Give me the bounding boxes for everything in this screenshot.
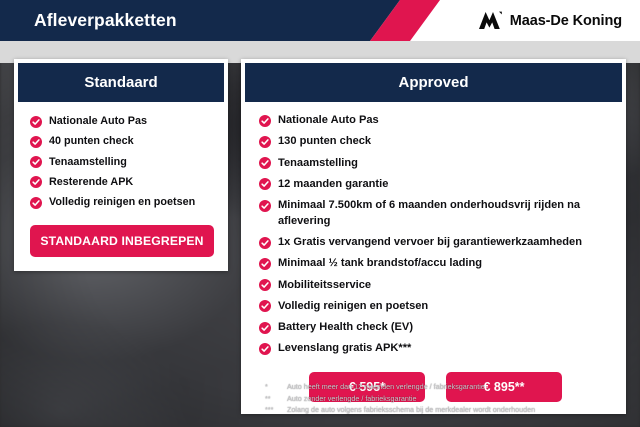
feature-label: Minimaal ½ tank brandstof/accu lading: [278, 256, 482, 272]
standaard-card-heading: Standaard: [18, 63, 224, 102]
brand-name: Maas-De Koning: [510, 13, 622, 29]
check-circle-icon: [30, 197, 42, 209]
check-circle-icon: [259, 200, 271, 212]
feature-item: Levenslang gratis APK***: [259, 341, 612, 357]
approved-card: Approved Nationale Auto Pas130 punten ch…: [241, 59, 626, 414]
check-circle-icon: [259, 322, 271, 334]
footnote-row: **Auto zonder verlengde / fabrieksgarant…: [265, 393, 635, 405]
feature-item: 130 punten check: [259, 134, 612, 150]
feature-label: 12 maanden garantie: [278, 177, 388, 193]
afleverpakketten-page: Afleverpakketten Maas-De Koning Standaar…: [0, 0, 640, 427]
feature-label: Mobiliteitsservice: [278, 278, 371, 294]
feature-item: Volledig reinigen en poetsen: [259, 299, 612, 315]
feature-label: Battery Health check (EV): [278, 320, 413, 336]
footnote-text: Auto zonder verlengde / fabrieksgarantie: [287, 393, 635, 405]
approved-card-body: Nationale Auto Pas130 punten checkTenaam…: [241, 102, 626, 414]
feature-item: Tenaamstelling: [259, 156, 612, 172]
footnotes: *Auto heeft meer dan 12 maanden verlengd…: [265, 381, 635, 416]
standaard-feature-list: Nationale Auto Pas40 punten checkTenaams…: [30, 114, 214, 211]
footnote-marker: *: [265, 381, 281, 393]
maas-de-koning-m-mark-icon: [476, 11, 502, 30]
footnote-row: ***Zolang de auto volgens fabrieksschema…: [265, 404, 635, 416]
approved-card-heading: Approved: [245, 63, 622, 102]
feature-label: 1x Gratis vervangend vervoer bij garanti…: [278, 235, 582, 251]
feature-label: Minimaal 7.500km of 6 maanden onderhouds…: [278, 198, 612, 230]
approved-feature-list: Nationale Auto Pas130 punten checkTenaam…: [259, 113, 612, 357]
check-circle-icon: [259, 115, 271, 127]
feature-item: Mobiliteitsservice: [259, 278, 612, 294]
check-circle-icon: [259, 300, 271, 312]
feature-label: 130 punten check: [278, 134, 371, 150]
feature-item: Battery Health check (EV): [259, 320, 612, 336]
standaard-card-body: Nationale Auto Pas40 punten checkTenaams…: [14, 102, 228, 271]
footnote-row: *Auto heeft meer dan 12 maanden verlengd…: [265, 381, 635, 393]
check-circle-icon: [259, 178, 271, 190]
feature-item: Nationale Auto Pas: [259, 113, 612, 129]
feature-item: Resterende APK: [30, 175, 214, 190]
footnote-marker: **: [265, 393, 281, 405]
feature-item: 1x Gratis vervangend vervoer bij garanti…: [259, 235, 612, 251]
check-circle-icon: [30, 156, 42, 168]
feature-item: Minimaal ½ tank brandstof/accu lading: [259, 256, 612, 272]
page-title: Afleverpakketten: [34, 0, 177, 41]
feature-item: Minimaal 7.500km of 6 maanden onderhouds…: [259, 198, 612, 230]
feature-item: 40 punten check: [30, 134, 214, 149]
footnote-text: Zolang de auto volgens fabrieksschema bi…: [287, 404, 635, 416]
check-circle-icon: [259, 279, 271, 291]
footnote-text: Auto heeft meer dan 12 maanden verlengde…: [287, 381, 635, 393]
check-circle-icon: [30, 176, 42, 188]
feature-item: Volledig reinigen en poetsen: [30, 195, 214, 210]
footnote-marker: ***: [265, 404, 281, 416]
check-circle-icon: [259, 136, 271, 148]
feature-label: Tenaamstelling: [278, 156, 358, 172]
feature-item: 12 maanden garantie: [259, 177, 612, 193]
check-circle-icon: [259, 343, 271, 355]
standaard-inbegrepen-button[interactable]: STANDAARD INBEGREPEN: [30, 225, 214, 257]
brand-logo: Maas-De Koning: [476, 0, 622, 41]
feature-label: Volledig reinigen en poetsen: [49, 195, 195, 210]
check-circle-icon: [30, 136, 42, 148]
check-circle-icon: [30, 116, 42, 128]
check-circle-icon: [259, 237, 271, 249]
feature-label: Nationale Auto Pas: [49, 114, 147, 129]
feature-item: Tenaamstelling: [30, 155, 214, 170]
check-circle-icon: [259, 258, 271, 270]
feature-label: 40 punten check: [49, 134, 134, 149]
feature-label: Volledig reinigen en poetsen: [278, 299, 428, 315]
standaard-card: Standaard Nationale Auto Pas40 punten ch…: [14, 59, 228, 271]
feature-item: Nationale Auto Pas: [30, 114, 214, 129]
page-header: Afleverpakketten Maas-De Koning: [0, 0, 640, 41]
feature-label: Levenslang gratis APK***: [278, 341, 411, 357]
feature-label: Nationale Auto Pas: [278, 113, 379, 129]
feature-label: Resterende APK: [49, 175, 133, 190]
feature-label: Tenaamstelling: [49, 155, 127, 170]
check-circle-icon: [259, 157, 271, 169]
